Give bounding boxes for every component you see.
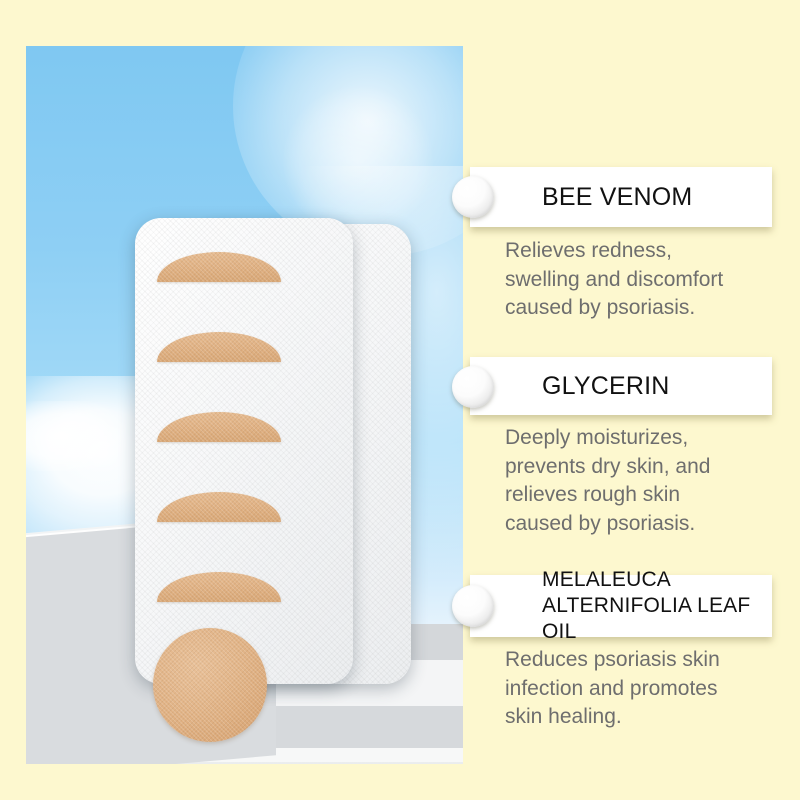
ingredient-bar-3[interactable]: MELALEUCA ALTERNIFOLIA LEAF OIL bbox=[470, 575, 772, 637]
patch-dome bbox=[157, 412, 281, 442]
circle-bullet-icon bbox=[452, 366, 494, 408]
patch-dome bbox=[157, 492, 281, 522]
ingredient-bar-2[interactable]: GLYCERIN bbox=[470, 357, 772, 415]
cloud-highlight-icon bbox=[26, 401, 126, 471]
ingredient-title-3: MELALEUCA ALTERNIFOLIA LEAF OIL bbox=[542, 567, 772, 645]
patch-dome bbox=[157, 332, 281, 362]
patch-circle-large bbox=[153, 628, 267, 742]
circle-bullet-icon bbox=[452, 176, 494, 218]
patch-dome bbox=[157, 252, 281, 282]
ingredient-title-1: BEE VENOM bbox=[542, 183, 692, 212]
ingredient-description-3: Reduces psoriasis skin infection and pro… bbox=[505, 646, 775, 732]
ingredient-description-1: Relieves redness, swelling and discomfor… bbox=[505, 237, 775, 323]
product-photo bbox=[26, 46, 463, 764]
ingredient-bar-1[interactable]: BEE VENOM bbox=[470, 167, 772, 227]
ingredient-title-2: GLYCERIN bbox=[542, 372, 670, 401]
ingredient-description-2: Deeply moisturizes, prevents dry skin, a… bbox=[505, 424, 775, 538]
patch-dome bbox=[157, 572, 281, 602]
infographic-canvas: BEE VENOM Relieves redness, swelling and… bbox=[0, 0, 800, 800]
patch-sheet-front bbox=[135, 218, 353, 684]
circle-bullet-icon bbox=[452, 585, 494, 627]
